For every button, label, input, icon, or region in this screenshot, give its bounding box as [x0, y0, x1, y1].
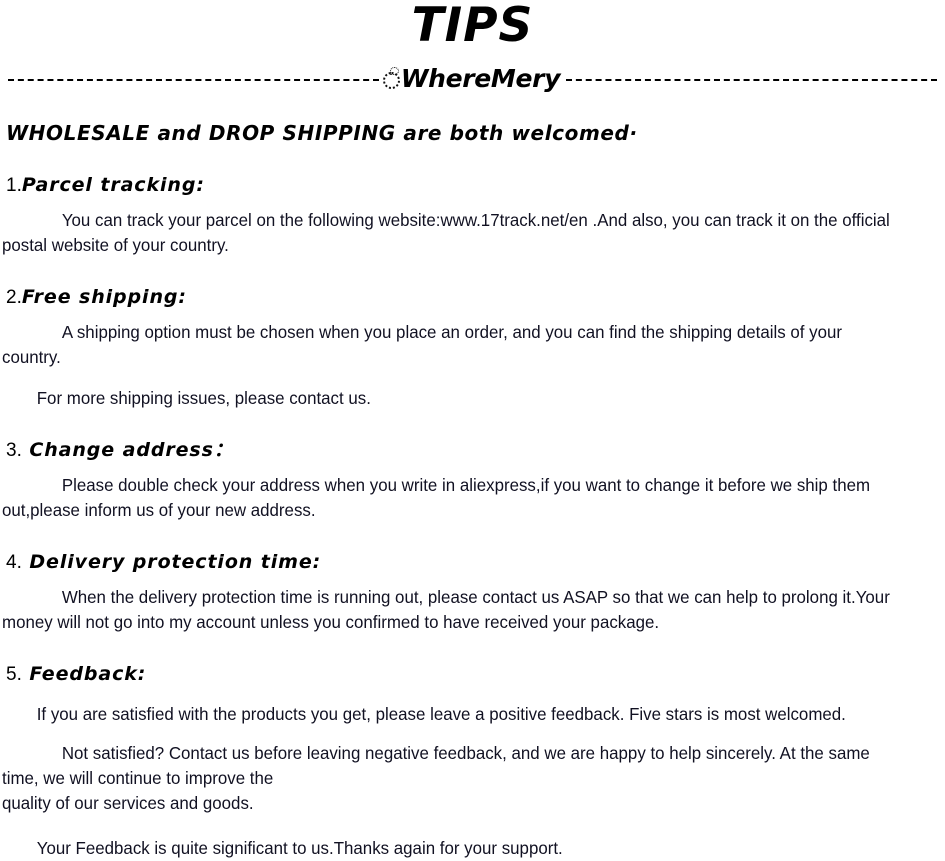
section-heading-change-address: 3. Change address： [6, 438, 945, 464]
section-paragraph: Please double check your address when yo… [2, 473, 901, 523]
section-title: Feedback: [22, 663, 146, 685]
section-paragraph: If you are satisfied with the products y… [2, 702, 901, 727]
section-heading-delivery-protection-time: 4. Delivery protection time: [6, 550, 945, 576]
divider-line-right [566, 79, 937, 81]
section-heading-parcel-tracking: 1.Parcel tracking: [6, 173, 945, 199]
section-paragraph: A shipping option must be chosen when yo… [2, 320, 901, 370]
section-title: Delivery protection time: [22, 551, 321, 573]
section-paragraph: For more shipping issues, please contact… [2, 386, 901, 411]
document-body: WHOLESALE and DROP SHIPPING are both wel… [0, 112, 945, 861]
page-title: TIPS [0, 0, 945, 54]
divider-line-left [8, 79, 379, 81]
brand-name: WhereMery [401, 65, 560, 93]
section-paragraph: quality of our services and goods. [2, 791, 901, 816]
flower-circle-icon [383, 72, 400, 89]
lead-statement: WHOLESALE and DROP SHIPPING are both wel… [6, 120, 945, 146]
section-paragraph: Your Feedback is quite significant to us… [2, 836, 901, 861]
brand-divider-row: WhereMery [0, 62, 945, 96]
section-title: Free shipping: [22, 286, 187, 308]
document-page: TIPS WhereMery WHOLESALE and DROP SHIPPI… [0, 0, 945, 794]
brand: WhereMery [383, 65, 560, 93]
section-number: 4. [6, 552, 22, 573]
section-paragraph: Not satisfied? Contact us before leaving… [2, 741, 901, 791]
section-title: Parcel tracking: [22, 174, 205, 196]
section-paragraph: You can track your parcel on the followi… [2, 208, 901, 258]
section-heading-free-shipping: 2.Free shipping: [6, 285, 945, 311]
section-number: 3. [6, 440, 22, 461]
section-number: 1. [6, 175, 22, 196]
section-title: Change address： [22, 439, 234, 461]
section-number: 2. [6, 287, 22, 308]
section-number: 5. [6, 664, 22, 685]
section-heading-feedback: 5. Feedback: [6, 662, 945, 688]
section-paragraph: When the delivery protection time is run… [2, 585, 901, 635]
